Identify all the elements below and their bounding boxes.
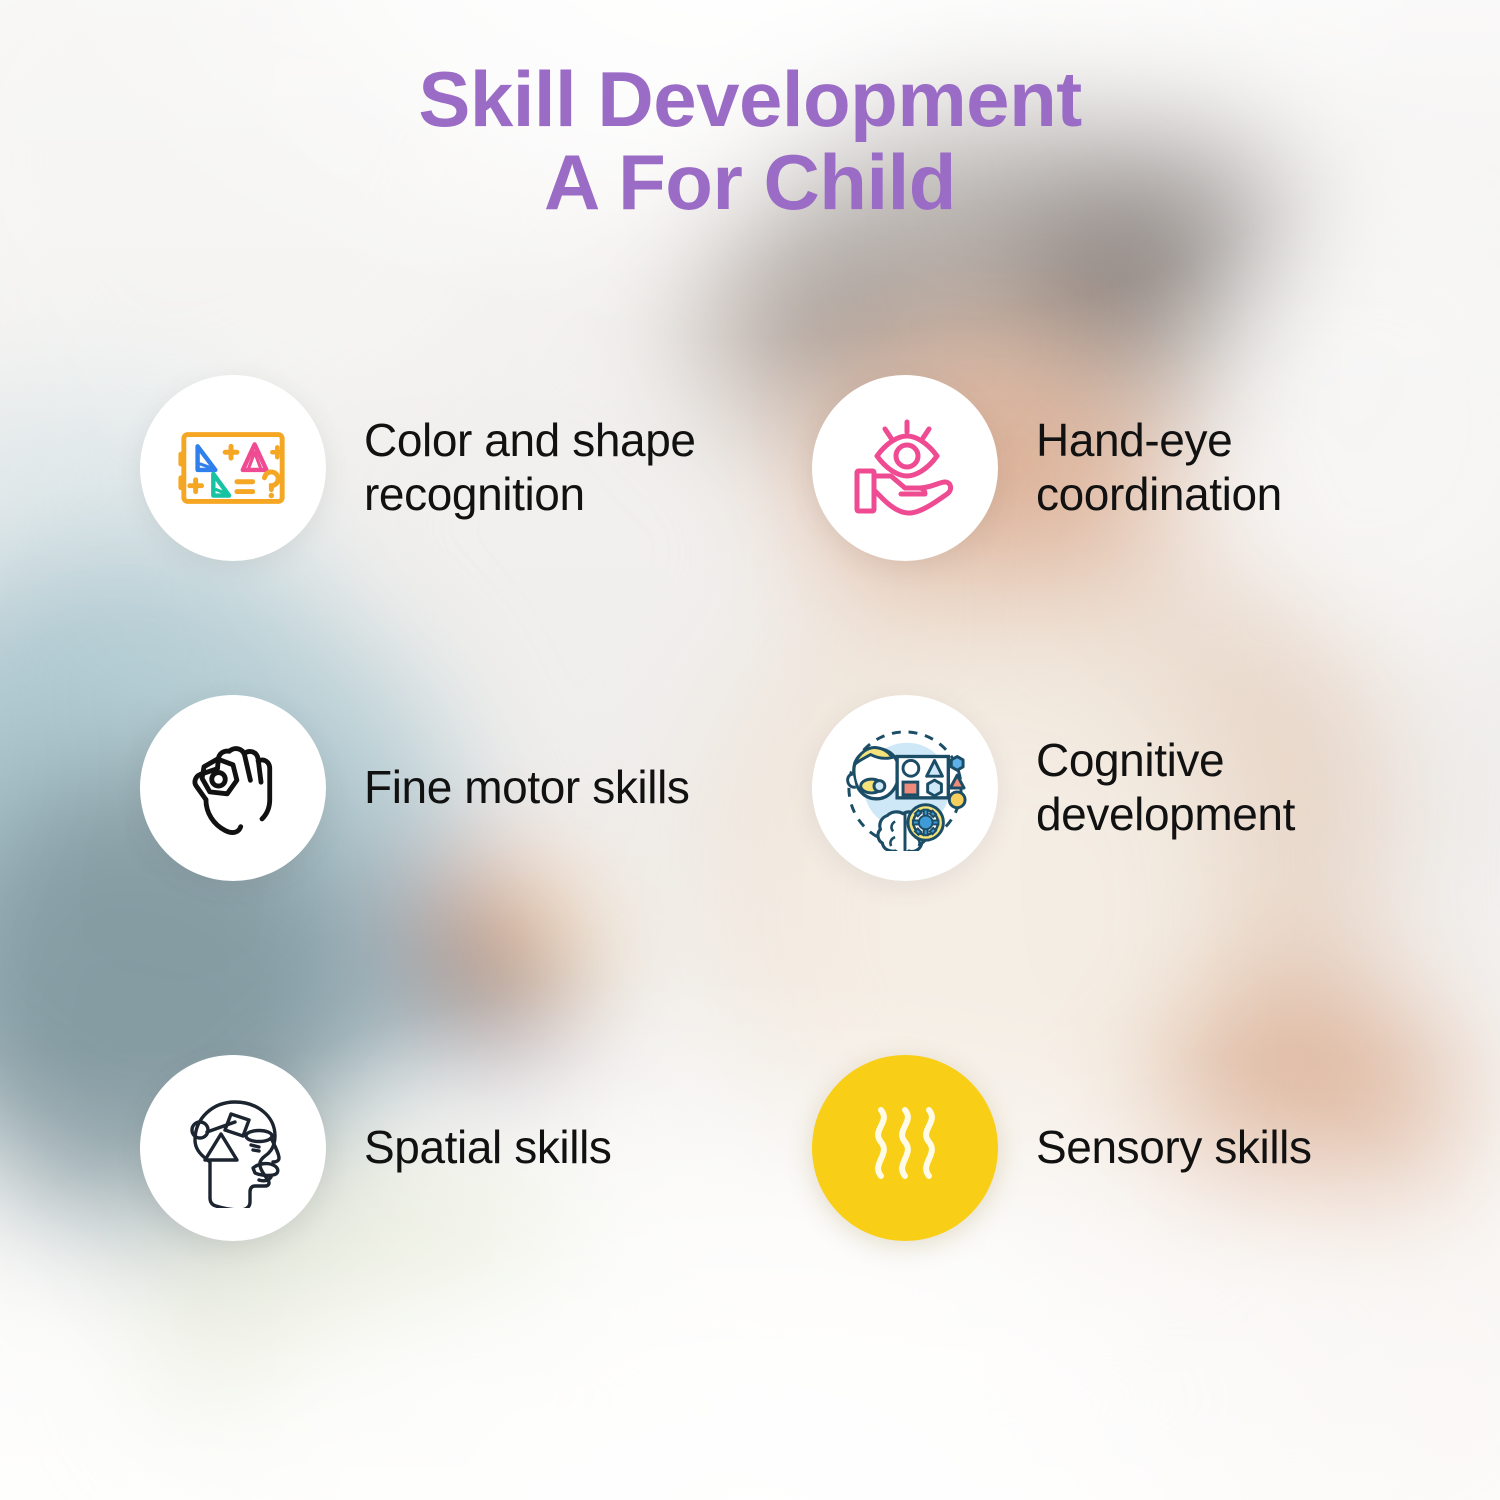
skill-label: Fine motor skills (364, 761, 690, 815)
pinching-hand-icon (140, 695, 326, 881)
page-title: Skill Development A For Child (0, 58, 1500, 225)
skill-label: Color and shape recognition (364, 414, 760, 522)
skill-item-color-shape-recognition[interactable]: Color and shape recognition (140, 372, 760, 564)
skill-item-sensory-skills[interactable]: Sensory skills (812, 1052, 1412, 1244)
head-profile-shapes-icon (140, 1055, 326, 1241)
skill-item-spatial-skills[interactable]: Spatial skills (140, 1052, 760, 1244)
title-line-1: Skill Development (0, 58, 1500, 141)
skill-item-hand-eye-coordination[interactable]: Hand-eye coordination (812, 372, 1412, 564)
skill-label: Hand-eye coordination (1036, 414, 1412, 522)
skill-item-fine-motor-skills[interactable]: Fine motor skills (140, 692, 760, 884)
wavy-lines-icon (812, 1055, 998, 1241)
hand-eye-icon (812, 375, 998, 561)
skill-label: Spatial skills (364, 1121, 612, 1175)
skill-label: Sensory skills (1036, 1121, 1312, 1175)
skill-item-cognitive-development[interactable]: Cognitive development (812, 692, 1412, 884)
shapes-board-icon (140, 375, 326, 561)
baby-brain-shapes-icon (812, 695, 998, 881)
skill-label: Cognitive development (1036, 734, 1412, 842)
title-line-2: A For Child (0, 141, 1500, 224)
infographic-poster: Skill Development A For Child (0, 0, 1500, 1500)
